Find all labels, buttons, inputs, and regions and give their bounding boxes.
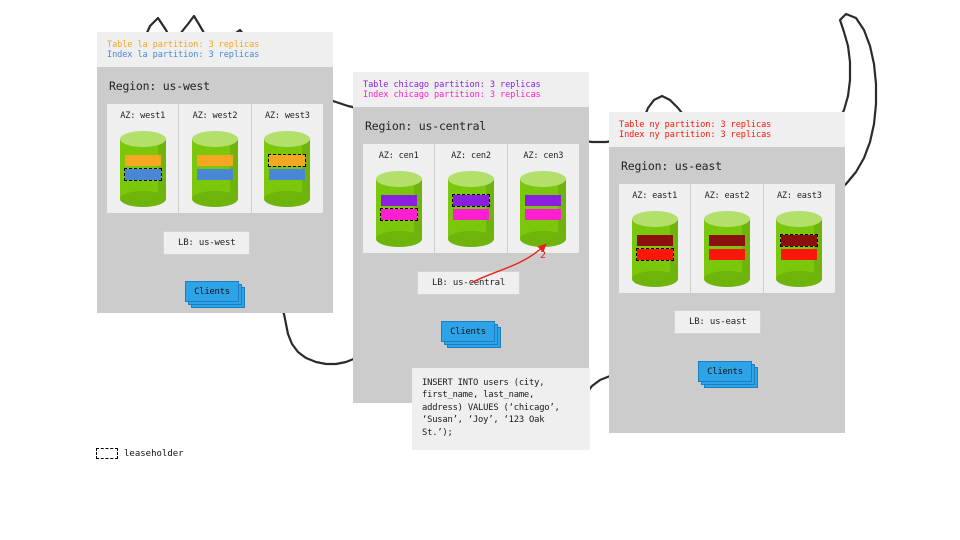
region-title: Region: us-central	[365, 119, 579, 133]
replica-bar-leaseholder	[637, 249, 673, 260]
az-cell-east2[interactable]: AZ: east2	[690, 184, 762, 293]
az-strip: AZ: west1AZ: west2AZ: west3	[107, 104, 323, 213]
partition-summary-us-west: Table la partition: 3 replicasIndex la p…	[97, 32, 333, 67]
az-strip: AZ: east1AZ: east2AZ: east3	[619, 184, 835, 293]
region-body-us-east: Region: us-eastAZ: east1AZ: east2AZ: eas…	[609, 147, 845, 433]
partition-line: Index ny partition: 3 replicas	[619, 130, 835, 140]
dashed-rect-icon	[96, 448, 118, 459]
clients-button-us-east[interactable]: Clients	[698, 361, 756, 385]
replica-stack	[637, 235, 673, 260]
partition-line: Index chicago partition: 3 replicas	[363, 90, 579, 100]
cylinder-bottom	[376, 231, 422, 247]
arrow-step-number: 2	[540, 250, 546, 261]
cylinder-bottom	[192, 191, 238, 207]
cylinder-bottom	[120, 191, 166, 207]
replica-bar-leaseholder	[381, 209, 417, 220]
az-cell-cen2[interactable]: AZ: cen2	[434, 144, 506, 253]
replica-bar-leaseholder	[125, 169, 161, 180]
cylinder-bottom	[704, 271, 750, 287]
load-balancer-us-east[interactable]: LB: us-east	[674, 310, 761, 334]
cylinder-bottom	[776, 271, 822, 287]
az-cell-east3[interactable]: AZ: east3	[763, 184, 835, 293]
az-cell-west1[interactable]: AZ: west1	[107, 104, 178, 213]
region-title: Region: us-east	[621, 159, 835, 173]
az-label: AZ: west3	[252, 111, 323, 121]
replica-bar	[637, 235, 673, 246]
replica-bar-leaseholder	[453, 195, 489, 206]
replica-bar	[269, 169, 305, 180]
database-node-icon[interactable]	[704, 211, 750, 283]
az-label: AZ: cen1	[363, 151, 434, 161]
replica-bar-leaseholder	[781, 235, 817, 246]
replica-bar	[197, 155, 233, 166]
cylinder-bottom	[520, 231, 566, 247]
replica-stack	[709, 235, 745, 260]
partition-line: Table ny partition: 3 replicas	[619, 120, 835, 130]
clients-label: Clients	[185, 281, 239, 302]
region-body-us-central: Region: us-centralAZ: cen1AZ: cen2AZ: ce…	[353, 107, 589, 403]
replica-bar	[381, 195, 417, 206]
load-balancer-us-west[interactable]: LB: us-west	[163, 231, 250, 255]
az-label: AZ: cen2	[435, 151, 506, 161]
diagram-canvas: Table la partition: 3 replicasIndex la p…	[0, 0, 960, 540]
az-label: AZ: cen3	[508, 151, 579, 161]
load-balancer-us-central[interactable]: LB: us-central	[417, 271, 520, 295]
partition-summary-us-central: Table chicago partition: 3 replicasIndex…	[353, 72, 589, 107]
region-panel-us-west: Table la partition: 3 replicasIndex la p…	[97, 32, 333, 313]
partition-line: Table la partition: 3 replicas	[107, 40, 323, 50]
replica-bar	[197, 169, 233, 180]
replica-stack	[125, 155, 161, 180]
replica-bar-leaseholder	[269, 155, 305, 166]
replica-stack	[781, 235, 817, 260]
database-node-icon[interactable]	[376, 171, 422, 243]
az-cell-west2[interactable]: AZ: west2	[178, 104, 250, 213]
region-panel-us-central: Table chicago partition: 3 replicasIndex…	[353, 72, 589, 403]
database-node-icon[interactable]	[120, 131, 166, 203]
replica-bar	[709, 249, 745, 260]
az-label: AZ: east2	[691, 191, 762, 201]
region-title: Region: us-west	[109, 79, 323, 93]
clients-button-us-central[interactable]: Clients	[441, 321, 499, 345]
cylinder-bottom	[632, 271, 678, 287]
replica-bar	[525, 195, 561, 206]
database-node-icon[interactable]	[264, 131, 310, 203]
replica-bar	[781, 249, 817, 260]
partition-summary-us-east: Table ny partition: 3 replicasIndex ny p…	[609, 112, 845, 147]
partition-line: Index la partition: 3 replicas	[107, 50, 323, 60]
replica-bar	[453, 209, 489, 220]
legend-leaseholder: leaseholder	[96, 448, 184, 459]
partition-line: Table chicago partition: 3 replicas	[363, 80, 579, 90]
database-node-icon[interactable]	[776, 211, 822, 283]
region-body-us-west: Region: us-westAZ: west1AZ: west2AZ: wes…	[97, 67, 333, 313]
replica-stack	[197, 155, 233, 180]
replica-bar	[709, 235, 745, 246]
replica-stack	[453, 195, 489, 220]
az-label: AZ: west2	[179, 111, 250, 121]
replica-bar	[525, 209, 561, 220]
sql-insert-statement: INSERT INTO users (city, first_name, las…	[412, 368, 590, 450]
az-cell-cen1[interactable]: AZ: cen1	[363, 144, 434, 253]
clients-button-us-west[interactable]: Clients	[185, 281, 243, 305]
replica-stack	[269, 155, 305, 180]
legend-label: leaseholder	[124, 449, 184, 459]
database-node-icon[interactable]	[520, 171, 566, 243]
clients-label: Clients	[441, 321, 495, 342]
replica-stack	[381, 195, 417, 220]
az-cell-cen3[interactable]: AZ: cen3	[507, 144, 579, 253]
replica-bar	[125, 155, 161, 166]
clients-label: Clients	[698, 361, 752, 382]
replica-stack	[525, 195, 561, 220]
az-cell-west3[interactable]: AZ: west3	[251, 104, 323, 213]
database-node-icon[interactable]	[632, 211, 678, 283]
az-label: AZ: east1	[619, 191, 690, 201]
database-node-icon[interactable]	[192, 131, 238, 203]
az-label: AZ: east3	[764, 191, 835, 201]
az-label: AZ: west1	[107, 111, 178, 121]
cylinder-bottom	[448, 231, 494, 247]
database-node-icon[interactable]	[448, 171, 494, 243]
cylinder-bottom	[264, 191, 310, 207]
az-cell-east1[interactable]: AZ: east1	[619, 184, 690, 293]
az-strip: AZ: cen1AZ: cen2AZ: cen3	[363, 144, 579, 253]
